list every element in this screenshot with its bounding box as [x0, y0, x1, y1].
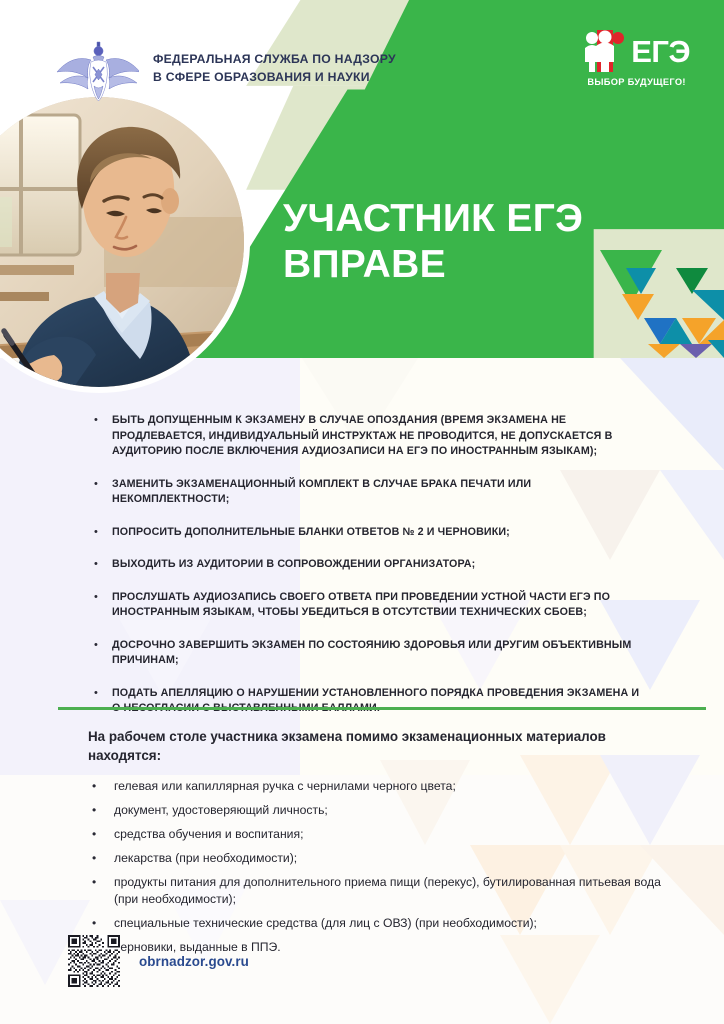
- organization-header: ФЕДЕРАЛЬНАЯ СЛУЖБА ПО НАДЗОРУ В СФЕРЕ ОБ…: [55, 36, 396, 102]
- poster-footer: obrnadzor.gov.ru: [68, 935, 249, 987]
- list-item: • ДОСРОЧНО ЗАВЕРШИТЬ ЭКЗАМЕН ПО СОСТОЯНИ…: [90, 638, 650, 669]
- list-item-text: продукты питания для дополнительного при…: [114, 874, 668, 908]
- list-item-text: ПОПРОСИТЬ ДОПОЛНИТЕЛЬНЫЕ БЛАНКИ ОТВЕТОВ …: [112, 525, 650, 541]
- list-item-text: лекарства (при необходимости);: [114, 850, 668, 867]
- qr-code-icon[interactable]: [68, 935, 120, 987]
- bullet-marker: •: [90, 686, 112, 717]
- list-item: • ПОДАТЬ АПЕЛЛЯЦИЮ О НАРУШЕНИИ УСТАНОВЛЕ…: [90, 686, 650, 717]
- list-item-text: документ, удостоверяющий личность;: [114, 802, 668, 819]
- list-item-text: ВЫХОДИТЬ ИЗ АУДИТОРИИ В СОПРОВОЖДЕНИИ ОР…: [112, 557, 650, 573]
- list-item: • средства обучения и воспитания;: [88, 826, 668, 843]
- org-title-line-2: В СФЕРЕ ОБРАЗОВАНИЯ И НАУКИ: [153, 69, 396, 87]
- list-item: • гелевая или капиллярная ручка с чернил…: [88, 778, 668, 795]
- list-item: • ЗАМЕНИТЬ ЭКЗАМЕНАЦИОННЫЙ КОМПЛЕКТ В СЛ…: [90, 477, 650, 508]
- bullet-marker: •: [88, 778, 114, 795]
- list-item: • продукты питания для дополнительного п…: [88, 874, 668, 908]
- bullet-marker: •: [88, 915, 114, 932]
- bullet-marker: •: [88, 850, 114, 867]
- ege-logo-word: ЕГЭ: [631, 36, 690, 67]
- list-item: • специальные технические средства (для …: [88, 915, 668, 932]
- list-item-text: ЗАМЕНИТЬ ЭКЗАМЕНАЦИОННЫЙ КОМПЛЕКТ В СЛУЧ…: [112, 477, 650, 508]
- ege-logo-row: ЕГЭ: [583, 30, 690, 72]
- desk-section-heading: На рабочем столе участника экзамена поми…: [88, 727, 668, 765]
- bullet-marker: •: [90, 557, 112, 573]
- ege-logo-tagline: ВЫБОР БУДУЩЕГО!: [583, 77, 690, 87]
- org-title-line-1: ФЕДЕРАЛЬНАЯ СЛУЖБА ПО НАДЗОРУ: [153, 51, 396, 69]
- list-item-text: средства обучения и воспитания;: [114, 826, 668, 843]
- list-item-text: ПРОСЛУШАТЬ АУДИОЗАПИСЬ СВОЕГО ОТВЕТА ПРИ…: [112, 590, 650, 621]
- bullet-marker: •: [88, 874, 114, 908]
- roskomnadzor-emblem-icon: [55, 36, 139, 102]
- poster-header: ФЕДЕРАЛЬНАЯ СЛУЖБА ПО НАДЗОРУ В СФЕРЕ ОБ…: [0, 0, 724, 358]
- bullet-marker: •: [88, 802, 114, 819]
- list-item: • ПРОСЛУШАТЬ АУДИОЗАПИСЬ СВОЕГО ОТВЕТА П…: [90, 590, 650, 621]
- bullet-marker: •: [88, 826, 114, 843]
- rights-list: • БЫТЬ ДОПУЩЕННЫМ К ЭКЗАМЕНУ В СЛУЧАЕ ОП…: [90, 413, 650, 734]
- list-item-text: ПОДАТЬ АПЕЛЛЯЦИЮ О НАРУШЕНИИ УСТАНОВЛЕНН…: [112, 686, 650, 717]
- section-divider: [58, 707, 706, 710]
- page-title-line-2: ВПРАВЕ: [283, 242, 583, 288]
- page-title: УЧАСТНИК ЕГЭ ВПРАВЕ: [283, 196, 583, 288]
- list-item: • ПОПРОСИТЬ ДОПОЛНИТЕЛЬНЫЕ БЛАНКИ ОТВЕТО…: [90, 525, 650, 541]
- list-item: • ВЫХОДИТЬ ИЗ АУДИТОРИИ В СОПРОВОЖДЕНИИ …: [90, 557, 650, 573]
- list-item-text: ДОСРОЧНО ЗАВЕРШИТЬ ЭКЗАМЕН ПО СОСТОЯНИЮ …: [112, 638, 650, 669]
- page-title-line-1: УЧАСТНИК ЕГЭ: [283, 196, 583, 242]
- bullet-marker: •: [90, 477, 112, 508]
- bullet-marker: •: [90, 590, 112, 621]
- website-url-link[interactable]: obrnadzor.gov.ru: [139, 954, 249, 969]
- triangle-mosaic-decoration: [600, 250, 724, 358]
- list-item: • документ, удостоверяющий личность;: [88, 802, 668, 819]
- list-item-text: БЫТЬ ДОПУЩЕННЫМ К ЭКЗАМЕНУ В СЛУЧАЕ ОПОЗ…: [112, 413, 650, 460]
- ege-logo: ЕГЭ ВЫБОР БУДУЩЕГО!: [583, 30, 690, 87]
- desk-items-section: На рабочем столе участника экзамена поми…: [88, 727, 668, 963]
- bullet-marker: •: [90, 525, 112, 541]
- ege-people-icon: [583, 30, 627, 72]
- poster-root: ФЕДЕРАЛЬНАЯ СЛУЖБА ПО НАДЗОРУ В СФЕРЕ ОБ…: [0, 0, 724, 1024]
- bullet-marker: •: [90, 638, 112, 669]
- list-item: • лекарства (при необходимости);: [88, 850, 668, 867]
- list-item-text: гелевая или капиллярная ручка с чернилам…: [114, 778, 668, 795]
- list-item-text: специальные технические средства (для ли…: [114, 915, 668, 932]
- bullet-marker: •: [90, 413, 112, 460]
- list-item: • БЫТЬ ДОПУЩЕННЫМ К ЭКЗАМЕНУ В СЛУЧАЕ ОП…: [90, 413, 650, 460]
- organization-title: ФЕДЕРАЛЬНАЯ СЛУЖБА ПО НАДЗОРУ В СФЕРЕ ОБ…: [153, 51, 396, 86]
